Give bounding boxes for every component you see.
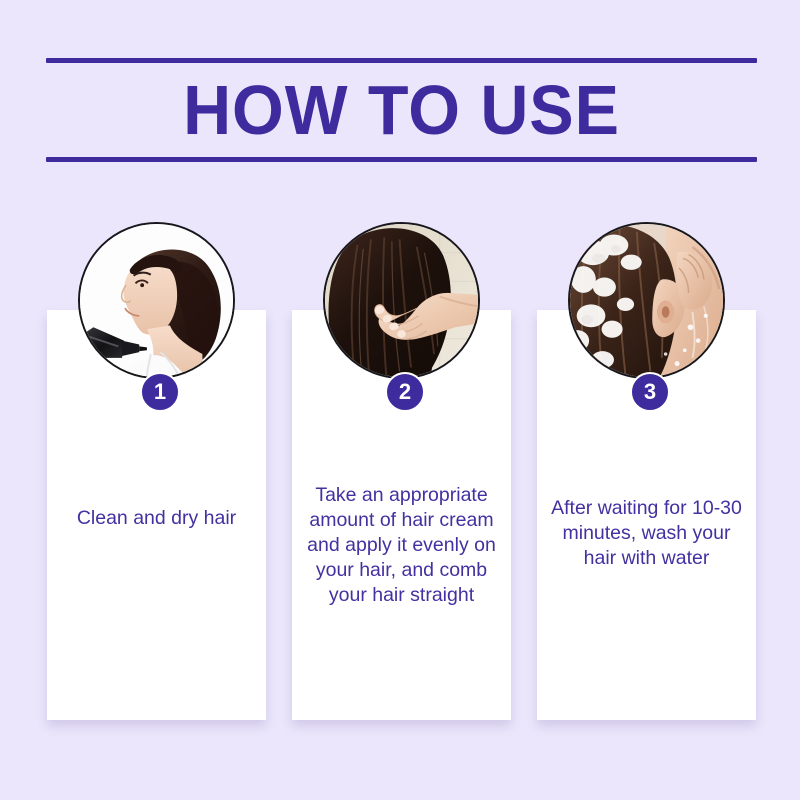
woman-blow-drying-long-dark-hair-icon: [80, 224, 233, 377]
step-description: Take an appropriate amount of hair cream…: [300, 483, 503, 608]
step-description: Clean and dry hair: [55, 506, 258, 531]
page-title: HOW TO USE: [64, 63, 739, 157]
step-card-3: After waiting for 10-30 minutes, wash yo…: [537, 200, 756, 740]
step-photo-3: [568, 222, 725, 379]
step-number-badge: 1: [140, 372, 180, 412]
hand-applying-cream-to-dark-hair-icon: [325, 224, 478, 377]
steps-row: Clean and dry hair: [0, 200, 800, 760]
step-number-badge: 3: [630, 372, 670, 412]
how-to-use-poster: HOW TO USE Clean and dry hair: [0, 0, 800, 800]
title-rule-bottom: [46, 157, 757, 162]
header: HOW TO USE: [46, 58, 757, 162]
step-description: After waiting for 10-30 minutes, wash yo…: [545, 496, 748, 571]
step-number-badge: 2: [385, 372, 425, 412]
step-photo-1: [78, 222, 235, 379]
step-photo-2: [323, 222, 480, 379]
woman-washing-hair-with-lather-icon: [570, 224, 723, 377]
step-card-1: Clean and dry hair: [47, 200, 266, 740]
step-card-2: Take an appropriate amount of hair cream…: [292, 200, 511, 740]
